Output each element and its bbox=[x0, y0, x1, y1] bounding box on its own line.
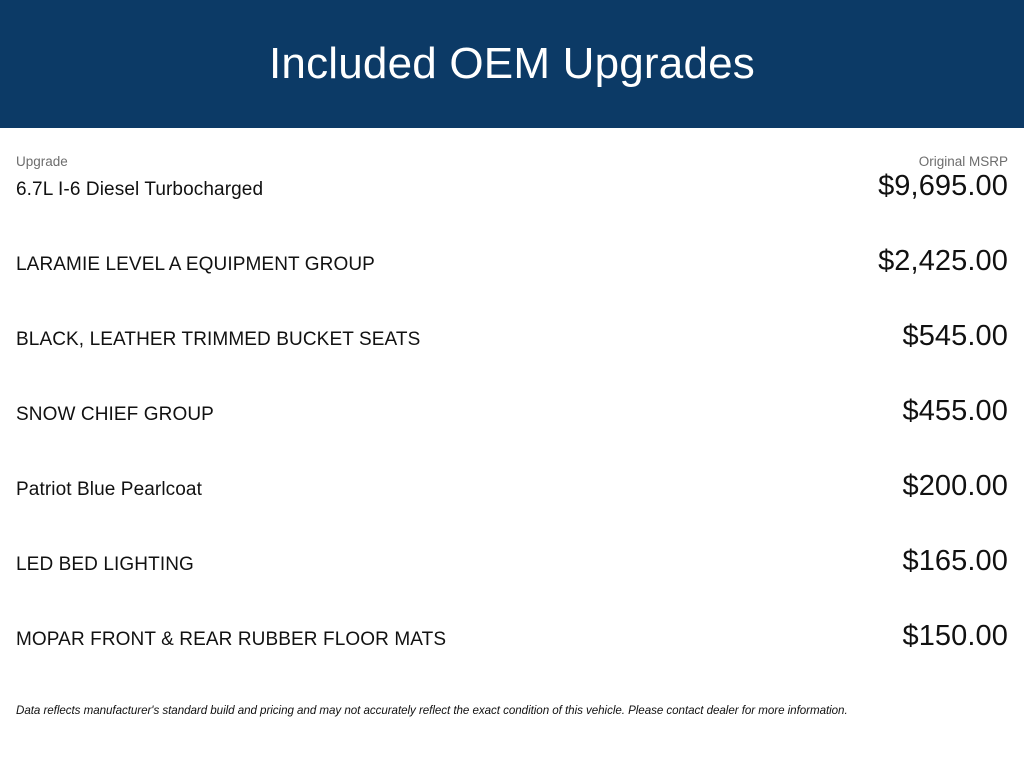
upgrade-price: $9,695.00 bbox=[878, 170, 1008, 203]
upgrade-label: Patriot Blue Pearlcoat bbox=[16, 479, 902, 501]
table-row: MOPAR FRONT & REAR RUBBER FLOOR MATS $15… bbox=[16, 620, 1008, 695]
table-row: LED BED LIGHTING $165.00 bbox=[16, 545, 1008, 620]
upgrade-price: $545.00 bbox=[902, 320, 1008, 353]
upgrade-price: $165.00 bbox=[902, 545, 1008, 578]
column-header-upgrade: Upgrade bbox=[16, 155, 68, 169]
table-row: 6.7L I-6 Diesel Turbocharged $9,695.00 bbox=[16, 170, 1008, 245]
upgrade-price: $200.00 bbox=[902, 470, 1008, 503]
upgrade-label: MOPAR FRONT & REAR RUBBER FLOOR MATS bbox=[16, 629, 902, 651]
column-header-original-msrp: Original MSRP bbox=[919, 155, 1008, 169]
upgrade-label: LARAMIE LEVEL A EQUIPMENT GROUP bbox=[16, 254, 878, 276]
oem-upgrades-page: Included OEM Upgrades Upgrade Original M… bbox=[0, 0, 1024, 768]
table-row: BLACK, LEATHER TRIMMED BUCKET SEATS $545… bbox=[16, 320, 1008, 395]
upgrade-price: $150.00 bbox=[902, 620, 1008, 653]
upgrade-label: 6.7L I-6 Diesel Turbocharged bbox=[16, 179, 878, 201]
upgrade-label: LED BED LIGHTING bbox=[16, 554, 902, 576]
table-header-row: Upgrade Original MSRP bbox=[16, 128, 1008, 170]
upgrade-label: SNOW CHIEF GROUP bbox=[16, 404, 902, 426]
upgrades-table: Upgrade Original MSRP 6.7L I-6 Diesel Tu… bbox=[0, 128, 1024, 695]
disclaimer-text: Data reflects manufacturer's standard bu… bbox=[0, 695, 1024, 718]
upgrade-price: $455.00 bbox=[902, 395, 1008, 428]
page-title: Included OEM Upgrades bbox=[269, 42, 755, 86]
table-row: Patriot Blue Pearlcoat $200.00 bbox=[16, 470, 1008, 545]
table-row: SNOW CHIEF GROUP $455.00 bbox=[16, 395, 1008, 470]
table-row: LARAMIE LEVEL A EQUIPMENT GROUP $2,425.0… bbox=[16, 245, 1008, 320]
page-header-banner: Included OEM Upgrades bbox=[0, 0, 1024, 128]
upgrade-label: BLACK, LEATHER TRIMMED BUCKET SEATS bbox=[16, 329, 902, 351]
upgrade-price: $2,425.00 bbox=[878, 245, 1008, 278]
